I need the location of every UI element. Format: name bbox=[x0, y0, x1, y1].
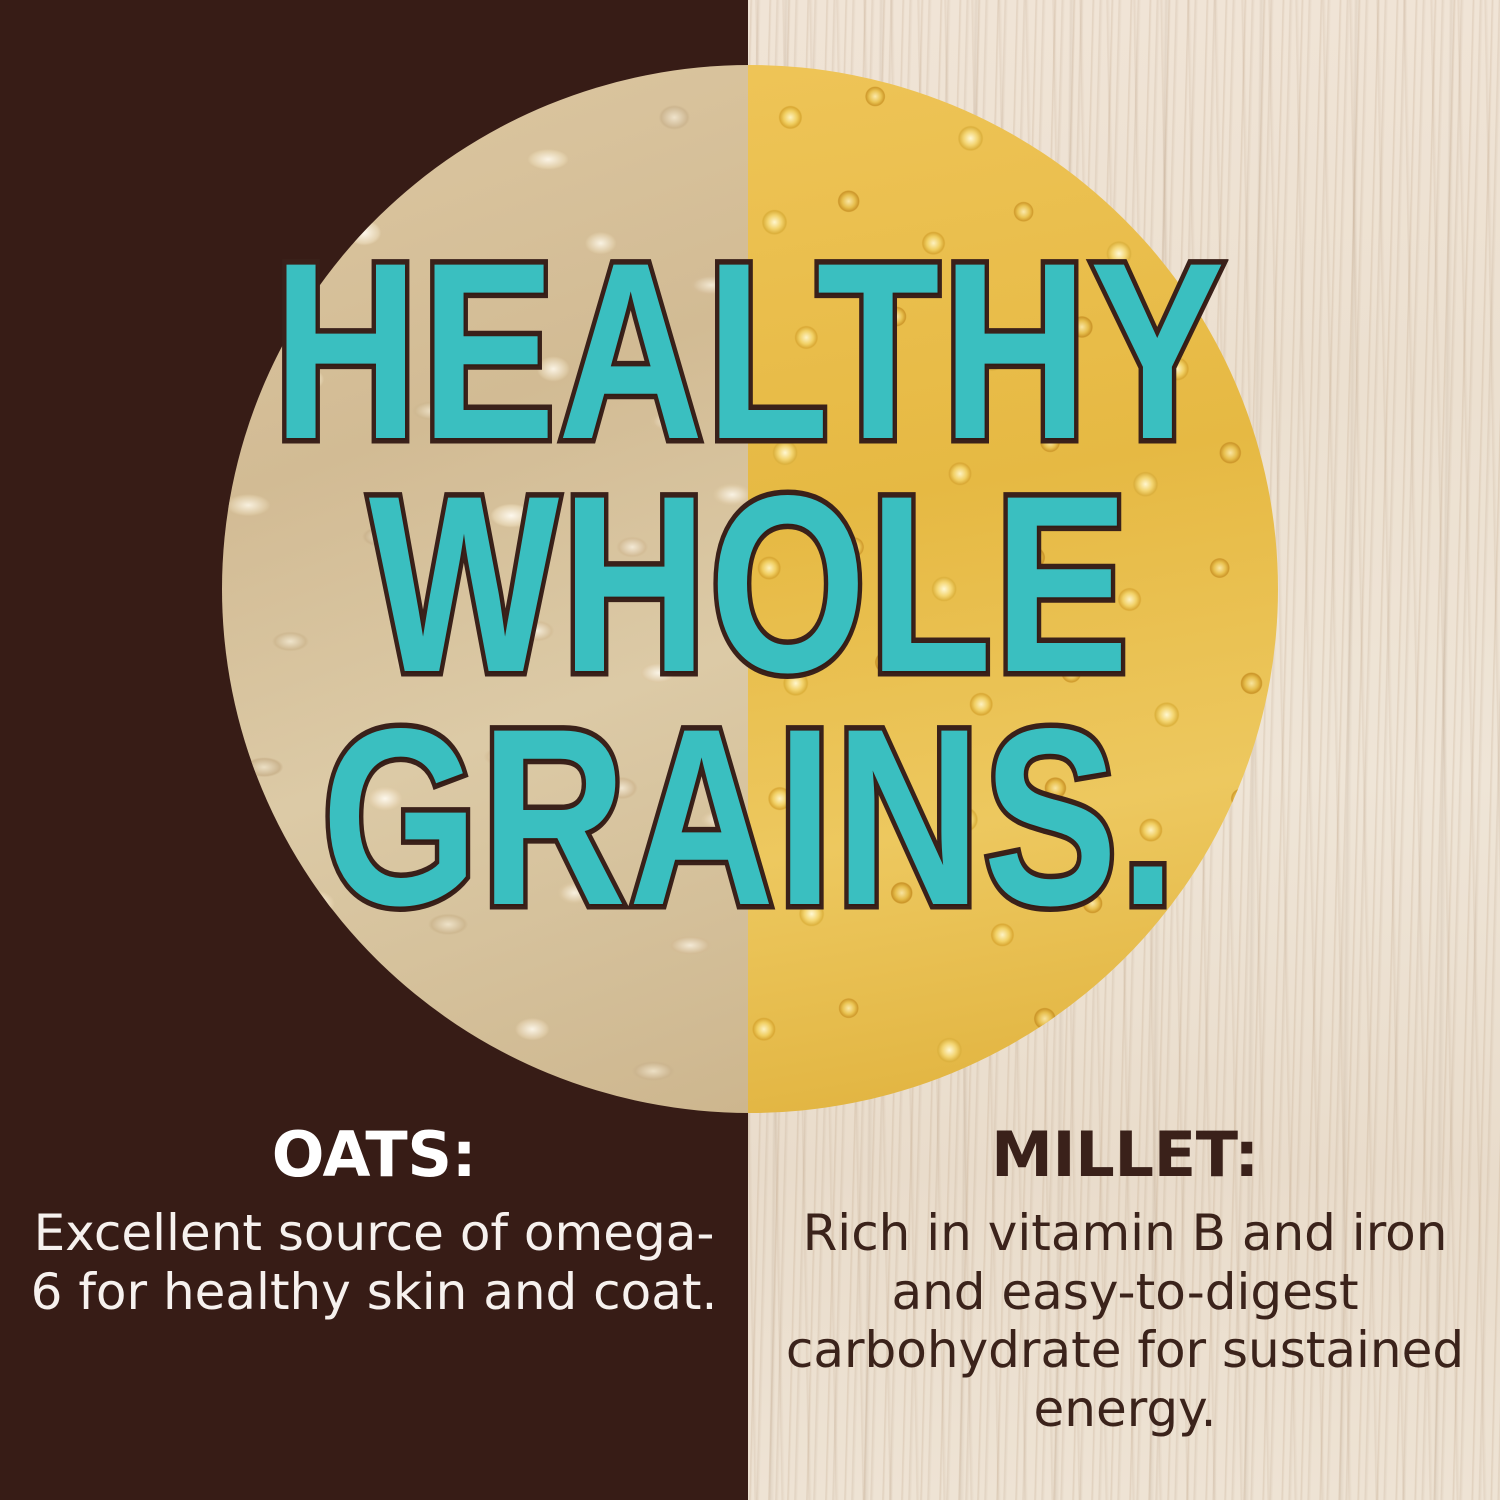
oats-description: Excellent source of omega-6 for healthy … bbox=[24, 1204, 724, 1321]
millet-column: MILLET: Rich in vitamin B and iron and e… bbox=[775, 1124, 1475, 1438]
oats-column: OATS: Excellent source of omega-6 for he… bbox=[24, 1124, 724, 1321]
millet-heading: MILLET: bbox=[775, 1124, 1475, 1186]
millet-description: Rich in vitamin B and iron and easy-to-d… bbox=[775, 1204, 1475, 1438]
healthy-whole-grains-infographic: HEALTHY WHOLE GRAINS. OATS: Excellent so… bbox=[0, 0, 1500, 1500]
oats-heading: OATS: bbox=[24, 1124, 724, 1186]
oats-texture-half bbox=[222, 65, 748, 1113]
millet-texture-half bbox=[748, 65, 1278, 1113]
grain-photo-circle bbox=[222, 65, 1278, 1113]
